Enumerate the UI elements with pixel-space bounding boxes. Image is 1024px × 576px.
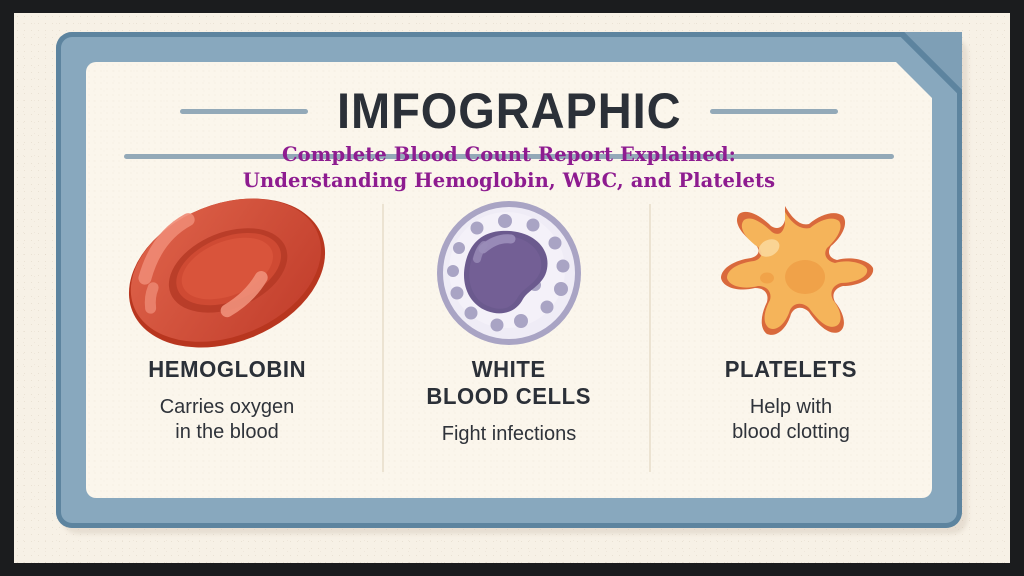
- column-divider-2: [649, 204, 651, 472]
- column-label-line: BLOOD CELLS: [427, 383, 592, 409]
- content-card: IMFOGRAPHIC Complete Blood Count Report …: [86, 62, 932, 498]
- column-label-line: WHITE: [472, 356, 546, 382]
- column-label: HEMOGLOBIN: [148, 356, 306, 383]
- page-subtitle: Complete Blood Count Report Explained: U…: [86, 142, 932, 193]
- description-line-1: Help with: [732, 395, 850, 420]
- infographic-stage: IMFOGRAPHIC Complete Blood Count Report …: [0, 0, 1024, 576]
- title-row: IMFOGRAPHIC: [86, 86, 932, 136]
- column-description: Fight infections: [442, 422, 577, 447]
- subtitle-line-1: Complete Blood Count Report Explained:: [106, 142, 912, 168]
- white-blood-cell-icon: [424, 198, 594, 348]
- column-white-blood-cells: WHITE BLOOD CELLS Fight infections: [368, 198, 650, 488]
- subtitle-line-2: Understanding Hemoglobin, WBC, and Plate…: [106, 168, 912, 194]
- page-title: IMFOGRAPHIC: [337, 86, 682, 136]
- column-platelets: PLATELETS Help with blood clotting: [650, 198, 932, 488]
- description-line-2: in the blood: [160, 420, 295, 445]
- red-blood-cell-icon: [120, 198, 334, 348]
- column-description: Help with blood clotting: [732, 395, 850, 445]
- column-label: WHITE BLOOD CELLS: [427, 356, 592, 410]
- column-hemoglobin: HEMOGLOBIN Carries oxygen in the blood: [86, 198, 368, 488]
- column-label-line: HEMOGLOBIN: [148, 356, 306, 382]
- title-rule-right: [710, 109, 838, 114]
- title-rule-left: [180, 109, 308, 114]
- description-line-2: blood clotting: [732, 420, 850, 445]
- columns-container: HEMOGLOBIN Carries oxygen in the blood: [86, 198, 932, 488]
- description-line-1: Carries oxygen: [160, 395, 295, 420]
- platelet-icon: [696, 198, 886, 348]
- column-divider-1: [382, 204, 384, 472]
- column-description: Carries oxygen in the blood: [160, 395, 295, 445]
- column-label-line: PLATELETS: [725, 356, 857, 382]
- column-label: PLATELETS: [725, 356, 857, 383]
- description-line-1: Fight infections: [442, 422, 577, 447]
